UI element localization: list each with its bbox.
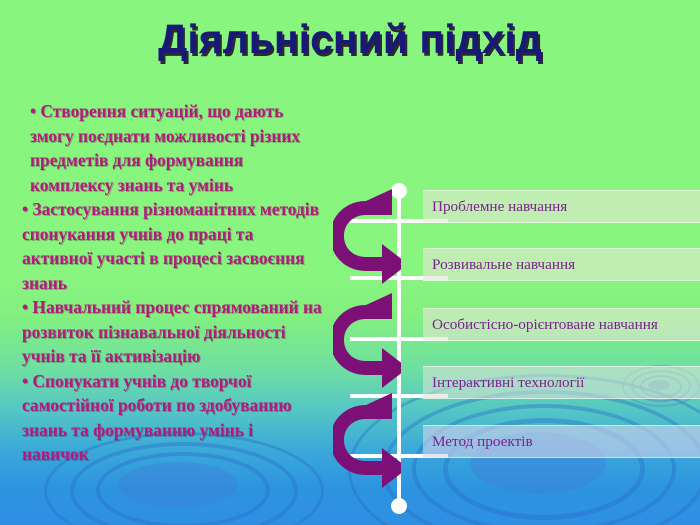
- diagram-item-5-label: Метод проектів: [432, 434, 533, 449]
- bullet-paragraph-2: • Застосування різноманітних методів спо…: [22, 197, 322, 295]
- curved-arrow-icon-1: [333, 184, 401, 288]
- bullet-paragraph-4: • Спонукати учнів до творчої самостійної…: [22, 369, 322, 467]
- diagram-item-3[interactable]: Особистісно-орієнтоване навчання: [423, 308, 700, 341]
- bullet-paragraph-3: • Навчальний процес спрямований на розви…: [22, 295, 322, 369]
- slide-canvas: Діяльнісний підхід • Створення ситуацій,…: [0, 0, 700, 525]
- bullet-paragraph-1: • Створення ситуацій, що дають змогу поє…: [22, 99, 322, 197]
- diagram-item-1[interactable]: Проблемне навчання: [423, 190, 700, 223]
- diagram-item-3-label: Особистісно-орієнтоване навчання: [432, 317, 658, 332]
- diagram-item-4-label: Інтерактивні технології: [432, 375, 584, 390]
- diagram-item-2[interactable]: Розвивальне навчання: [423, 248, 700, 281]
- diagram-item-1-label: Проблемне навчання: [432, 199, 567, 214]
- ripple-core-icon: [118, 462, 238, 508]
- body-text-block: • Створення ситуацій, що дають змогу поє…: [22, 99, 322, 467]
- curved-arrow-icon-3: [333, 388, 401, 492]
- curved-arrow-icon-2: [333, 288, 401, 392]
- diagram-item-4[interactable]: Інтерактивні технології: [423, 366, 700, 399]
- timeline-dot-bottom-icon: [391, 498, 407, 514]
- slide-title: Діяльнісний підхід: [0, 16, 700, 63]
- ripple-ring-icon: [412, 404, 676, 525]
- diagram-item-2-label: Розвивальне навчання: [432, 257, 575, 272]
- diagram-item-5[interactable]: Метод проектів: [423, 425, 700, 458]
